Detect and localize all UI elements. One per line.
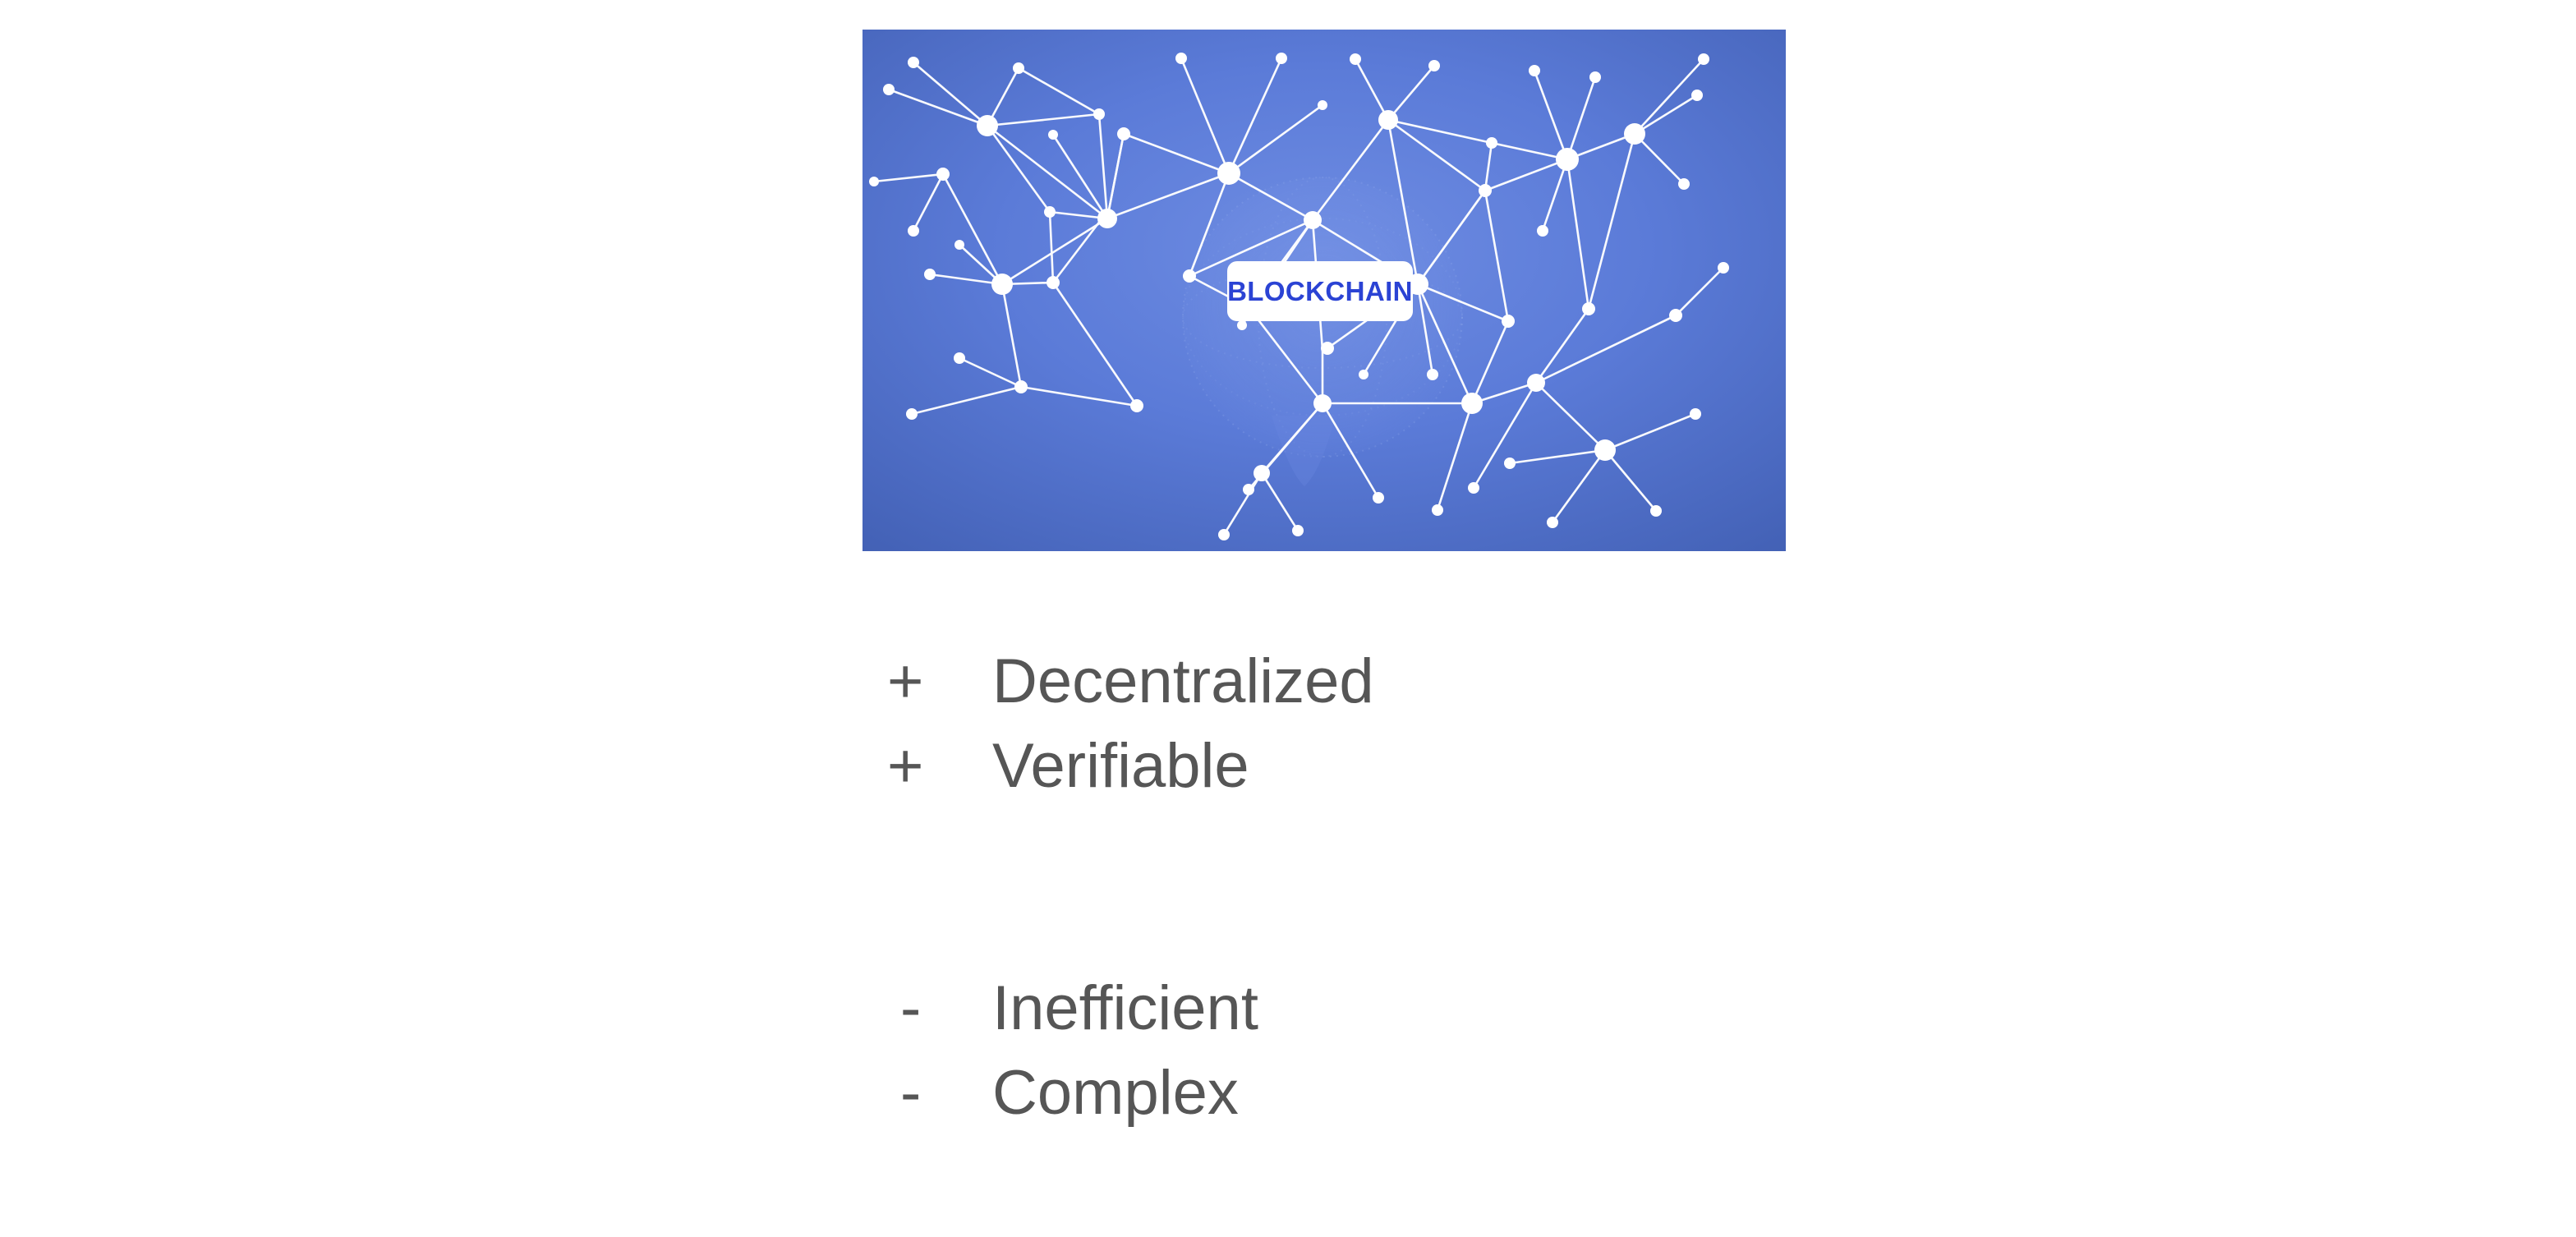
cons-item-label: Complex xyxy=(992,1062,1239,1124)
minus-icon: - xyxy=(887,1062,992,1124)
list-item: - Inefficient xyxy=(887,977,1258,1062)
pros-item-label: Decentralized xyxy=(992,651,1374,713)
minus-icon: - xyxy=(887,977,992,1040)
blockchain-label-text: BLOCKCHAIN xyxy=(1227,276,1413,307)
list-item: + Verifiable xyxy=(887,735,1374,820)
blockchain-center-label: BLOCKCHAIN xyxy=(1227,261,1413,321)
cons-item-label: Inefficient xyxy=(992,977,1258,1040)
pros-list: + Decentralized + Verifiable xyxy=(887,651,1374,820)
list-item: + Decentralized xyxy=(887,651,1374,735)
plus-icon: + xyxy=(887,735,992,798)
cons-list: - Inefficient - Complex xyxy=(887,977,1258,1147)
list-item: - Complex xyxy=(887,1062,1258,1147)
pros-item-label: Verifiable xyxy=(992,735,1249,798)
plus-icon: + xyxy=(887,651,992,713)
